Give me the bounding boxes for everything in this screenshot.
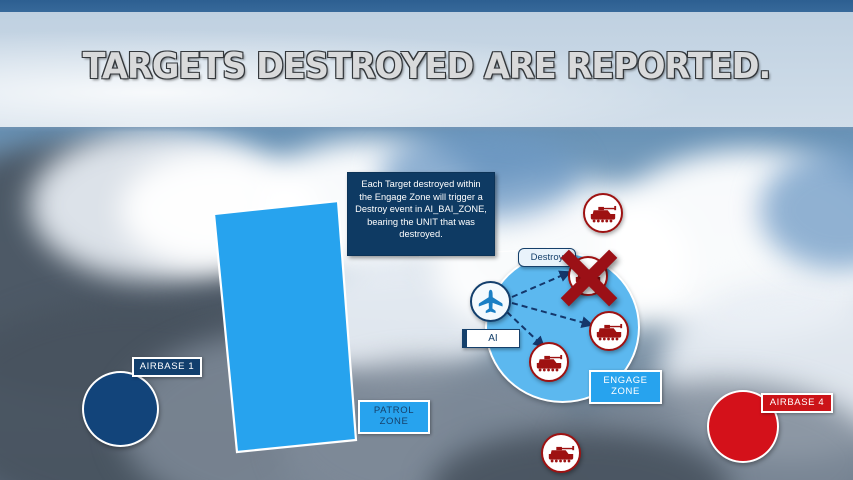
slide-canvas: TARGETS DESTROYED ARE REPORTED. Each Tar…: [0, 0, 853, 480]
callout-box: Each Target destroyed within the Engage …: [347, 172, 495, 256]
page-title: TARGETS DESTROYED ARE REPORTED.: [30, 46, 823, 87]
ai-label[interactable]: AI: [462, 329, 520, 348]
target-unit-outside-lower[interactable]: [541, 433, 581, 473]
top-accent-bar: [0, 0, 853, 12]
airbase-1-circle[interactable]: [82, 371, 159, 447]
airbase-4-label[interactable]: AIRBASE 4: [761, 393, 833, 413]
engage-zone-label-line2: ZONE: [611, 387, 640, 398]
tank-icon: [546, 438, 576, 468]
airbase-1-label[interactable]: AIRBASE 1: [132, 357, 202, 377]
tank-icon: [594, 316, 624, 346]
target-unit-right[interactable]: [589, 311, 629, 351]
patrol-zone-label[interactable]: PATROL ZONE: [358, 400, 430, 434]
tank-icon: [534, 347, 564, 377]
title-band-edge: [0, 127, 853, 132]
engage-zone-label[interactable]: ENGAGE ZONE: [589, 370, 662, 404]
target-unit-outside-upper[interactable]: [583, 193, 623, 233]
tank-icon: [588, 198, 618, 228]
fighter-jet-icon: [477, 288, 505, 316]
patrol-zone-label-line2: ZONE: [380, 417, 409, 428]
target-unit-lower[interactable]: [529, 342, 569, 382]
aircraft-icon-badge[interactable]: [470, 281, 511, 322]
red-x-icon: [558, 247, 620, 309]
